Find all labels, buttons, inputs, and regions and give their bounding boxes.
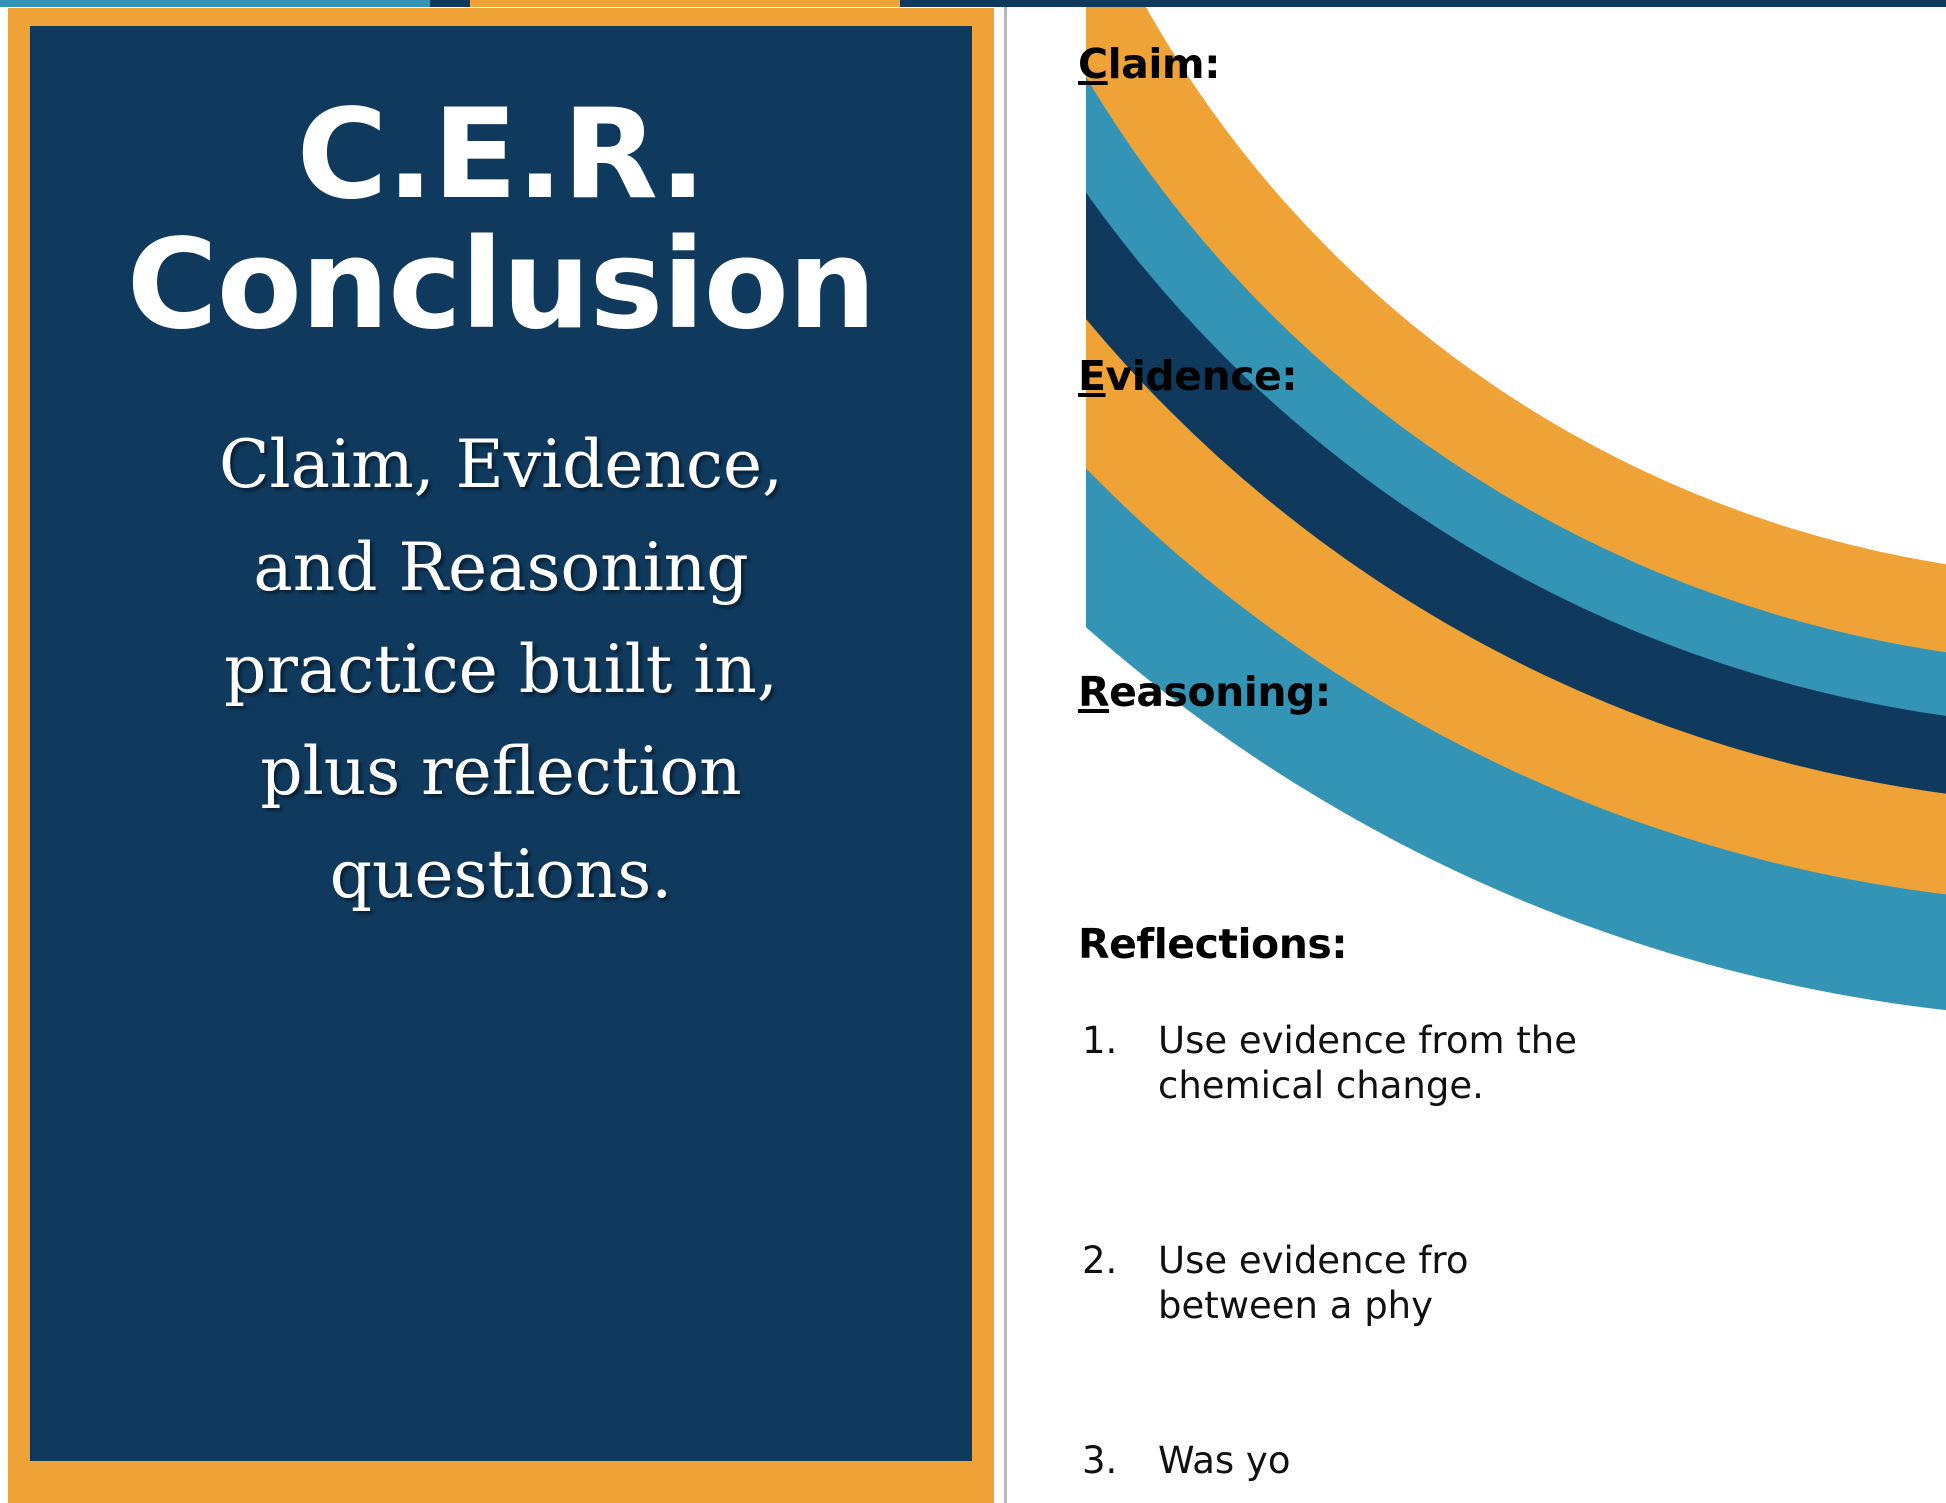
worksheet-heading-evidence: Evidence: xyxy=(1078,352,1297,400)
claim-initial: C xyxy=(1078,40,1108,88)
page-subtitle: Claim, Evidence, and Reasoning practice … xyxy=(82,414,920,925)
worksheet-page-edge xyxy=(1004,0,1007,1503)
page-title: C.E.R. Conclusion xyxy=(82,90,920,350)
reflection-item-1: 1. Use evidence from the chemical change… xyxy=(1082,1018,1577,1108)
slide-canvas: Claim: Evidence: Reasoning: Reflections:… xyxy=(0,0,1946,1503)
reflection-item-3: 3. Was yo xyxy=(1082,1438,1290,1483)
worksheet-heading-reflections: Reflections: xyxy=(1078,920,1347,968)
reflection-number-3: 3. xyxy=(1082,1438,1158,1483)
worksheet-heading-reasoning: Reasoning: xyxy=(1078,668,1331,716)
reflection-text-1: Use evidence from the chemical change. xyxy=(1158,1018,1577,1108)
reflection-text-3: Was yo xyxy=(1158,1438,1290,1483)
claim-rest: laim: xyxy=(1108,40,1220,88)
top-edge-strip-orange xyxy=(470,0,900,7)
evidence-rest: vidence: xyxy=(1106,352,1298,400)
top-edge-strip-teal xyxy=(0,0,430,7)
reflection-item-2: 2. Use evidence fro between a phy xyxy=(1082,1238,1468,1328)
reasoning-rest: easoning: xyxy=(1109,668,1331,716)
reasoning-initial: R xyxy=(1078,668,1109,716)
reflection-number-2: 2. xyxy=(1082,1238,1158,1283)
title-card: C.E.R. Conclusion Claim, Evidence, and R… xyxy=(30,26,972,1461)
reflection-text-2: Use evidence fro between a phy xyxy=(1158,1238,1468,1328)
reflection-number-1: 1. xyxy=(1082,1018,1158,1063)
evidence-initial: E xyxy=(1078,352,1106,400)
worksheet-heading-claim: Claim: xyxy=(1078,40,1220,88)
worksheet-content: Claim: Evidence: Reasoning: Reflections:… xyxy=(1078,0,1938,1503)
